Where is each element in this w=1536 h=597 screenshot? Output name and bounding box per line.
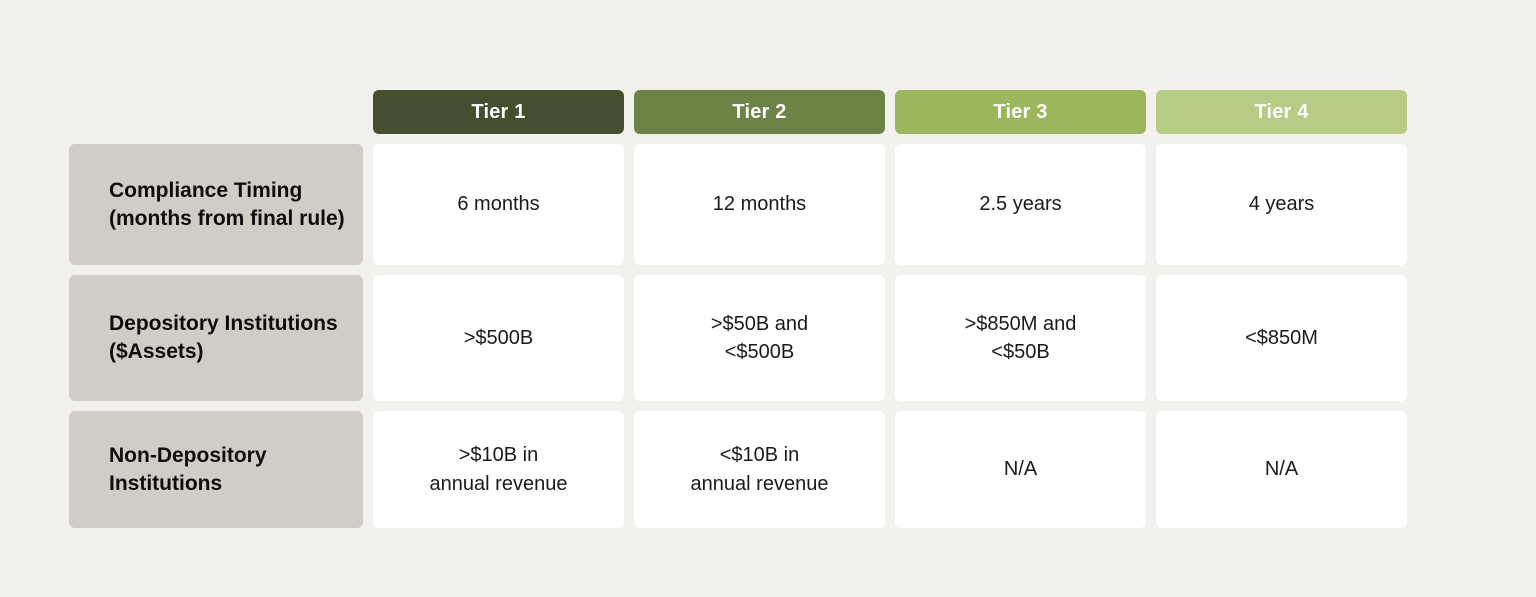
row-label-text: Compliance Timing (months from final rul… bbox=[109, 177, 363, 233]
cell-depository-tier-2: >$50B and <$500B bbox=[634, 275, 885, 401]
cell-depository-tier-4: <$850M bbox=[1156, 275, 1407, 401]
cell-compliance-timing-tier-2: 12 months bbox=[634, 144, 885, 265]
table-row: Depository Institutions ($Assets) >$500B… bbox=[69, 275, 1403, 401]
column-header-label: Tier 3 bbox=[993, 101, 1047, 124]
cell-value: >$50B and <$500B bbox=[711, 310, 808, 367]
cell-non-depository-tier-4: N/A bbox=[1156, 411, 1407, 528]
row-label-text: Depository Institutions ($Assets) bbox=[109, 310, 363, 366]
table-row: Non-Depository Institutions >$10B in ann… bbox=[69, 411, 1403, 528]
cell-value: N/A bbox=[1004, 455, 1037, 483]
column-header-label: Tier 2 bbox=[732, 101, 786, 124]
cell-value: >$10B in annual revenue bbox=[430, 441, 568, 498]
cell-value: N/A bbox=[1265, 455, 1298, 483]
cell-value: <$850M bbox=[1245, 324, 1318, 352]
column-header-tier-1[interactable]: Tier 1 bbox=[373, 90, 624, 134]
cell-value: 4 years bbox=[1249, 190, 1315, 218]
cell-non-depository-tier-3: N/A bbox=[895, 411, 1146, 528]
column-header-tier-3[interactable]: Tier 3 bbox=[895, 90, 1146, 134]
row-label-non-depository-institutions: Non-Depository Institutions bbox=[69, 411, 363, 528]
row-label-text: Non-Depository Institutions bbox=[109, 442, 363, 498]
column-header-tier-2[interactable]: Tier 2 bbox=[634, 90, 885, 134]
cell-compliance-timing-tier-1: 6 months bbox=[373, 144, 624, 265]
cell-depository-tier-1: >$500B bbox=[373, 275, 624, 401]
tier-comparison-table: Tier 1 Tier 2 Tier 3 Tier 4 Compliance T… bbox=[69, 90, 1403, 538]
row-label-compliance-timing: Compliance Timing (months from final rul… bbox=[69, 144, 363, 265]
cell-value: 6 months bbox=[457, 190, 539, 218]
column-header-tier-4[interactable]: Tier 4 bbox=[1156, 90, 1407, 134]
cell-value: >$500B bbox=[464, 324, 534, 352]
column-header-label: Tier 1 bbox=[471, 101, 525, 124]
header-corner-spacer bbox=[69, 90, 363, 134]
cell-non-depository-tier-1: >$10B in annual revenue bbox=[373, 411, 624, 528]
cell-depository-tier-3: >$850M and <$50B bbox=[895, 275, 1146, 401]
cell-value: <$10B in annual revenue bbox=[691, 441, 829, 498]
table-row: Compliance Timing (months from final rul… bbox=[69, 144, 1403, 265]
cell-compliance-timing-tier-4: 4 years bbox=[1156, 144, 1407, 265]
table-header-row: Tier 1 Tier 2 Tier 3 Tier 4 bbox=[69, 90, 1403, 134]
cell-value: 12 months bbox=[713, 190, 806, 218]
cell-value: >$850M and <$50B bbox=[965, 310, 1077, 367]
column-header-label: Tier 4 bbox=[1254, 101, 1308, 124]
row-label-depository-institutions: Depository Institutions ($Assets) bbox=[69, 275, 363, 401]
cell-value: 2.5 years bbox=[979, 190, 1061, 218]
cell-compliance-timing-tier-3: 2.5 years bbox=[895, 144, 1146, 265]
cell-non-depository-tier-2: <$10B in annual revenue bbox=[634, 411, 885, 528]
